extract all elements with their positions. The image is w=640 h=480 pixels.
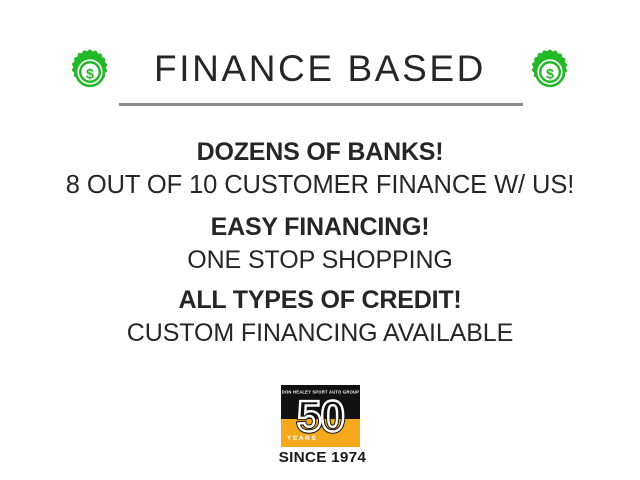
copy-block-banks: DOZENS OF BANKS! 8 OUT OF 10 CUSTOMER FI… — [0, 136, 640, 202]
copy-subheading: ONE STOP SHOPPING — [0, 243, 640, 277]
dealer-logo: DON HEALEY SPORT AUTO GROUP 50 50 YEARS … — [281, 385, 360, 467]
page-title: FINANCE BASED — [120, 46, 520, 92]
anniversary-badge: DON HEALEY SPORT AUTO GROUP 50 50 YEARS — [281, 385, 360, 447]
copy-heading: ALL TYPES OF CREDIT! — [0, 284, 640, 316]
copy-subheading: 8 OUT OF 10 CUSTOMER FINANCE W/ US! — [0, 168, 640, 202]
title-divider — [119, 103, 523, 106]
gear-dollar-icon: $ — [526, 48, 574, 96]
svg-text:$: $ — [546, 66, 554, 82]
since-text: SINCE 1974 — [279, 449, 363, 467]
copy-heading: DOZENS OF BANKS! — [0, 136, 640, 168]
copy-block-easy-financing: EASY FINANCING! ONE STOP SHOPPING — [0, 211, 640, 277]
copy-heading: EASY FINANCING! — [0, 211, 640, 243]
finance-based-slide: $ FINANCE BASED $ DOZENS OF BANKS! 8 OUT… — [0, 0, 640, 480]
gear-dollar-icon: $ — [66, 48, 114, 96]
svg-text:$: $ — [86, 66, 94, 82]
copy-block-all-credit: ALL TYPES OF CREDIT! CUSTOM FINANCING AV… — [0, 284, 640, 350]
anniversary-unit: YEARS — [287, 435, 317, 443]
copy-subheading: CUSTOM FINANCING AVAILABLE — [0, 316, 640, 350]
slide-header: $ FINANCE BASED $ — [0, 40, 640, 112]
